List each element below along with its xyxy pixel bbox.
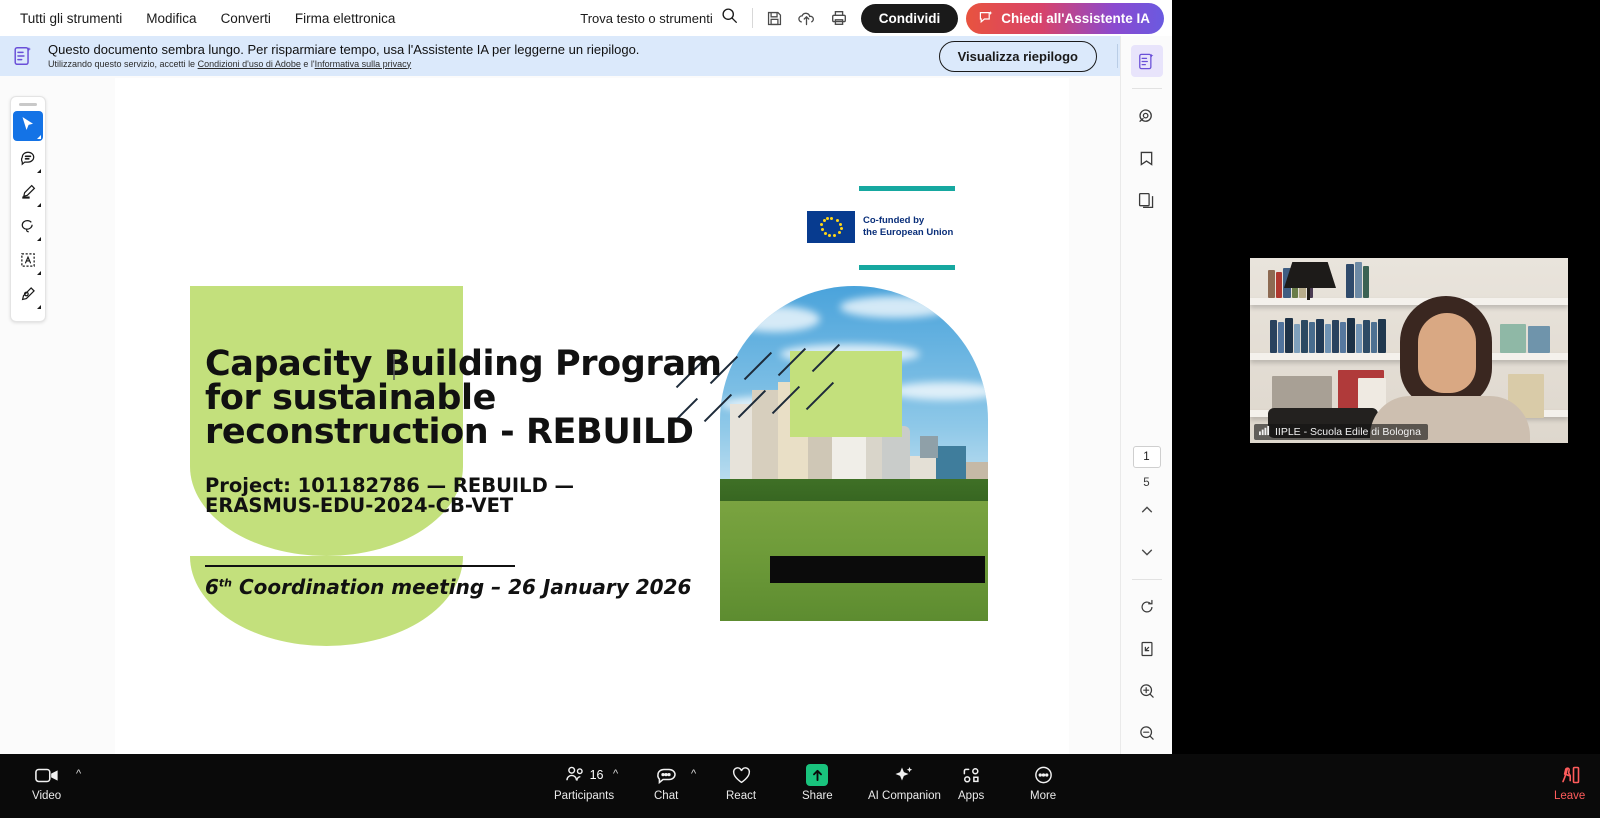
slide-title: Capacity Building Program for sustainabl… (205, 348, 725, 450)
share-button[interactable]: Condividi (861, 4, 959, 33)
ai-assistant-rail-icon[interactable] (1131, 45, 1163, 77)
tool-rail (10, 96, 46, 322)
fill-sign-icon (19, 285, 37, 308)
zoom-toolbar: Video ^ 16 Participants ^ Chat (0, 754, 1600, 818)
acrobat-right-rail: 1 5 (1120, 36, 1172, 754)
slide-subtitle-ordinal: th (219, 576, 232, 589)
rail-drag-handle[interactable] (19, 103, 37, 106)
save-icon[interactable] (759, 2, 791, 34)
slide-project-line1: Project: 101182786 — REBUILD — (205, 476, 725, 496)
rotate-icon[interactable] (1131, 591, 1163, 623)
accent-bar-top (859, 186, 955, 191)
slide-subtitle: 6th Coordination meeting – 26 January 20… (205, 575, 691, 599)
page-number-input[interactable]: 1 (1133, 446, 1161, 468)
camera-icon (35, 764, 59, 786)
city-skyline-photo (720, 286, 988, 621)
print-icon[interactable] (823, 2, 855, 34)
ai-assistant-icon (978, 9, 994, 28)
search-rail-icon[interactable] (1131, 100, 1163, 132)
terms-link[interactable]: Condizioni d'uso di Adobe (198, 59, 301, 69)
eu-logo-line2: the European Union (863, 227, 953, 240)
ai-summary-banner: Questo documento sembra lungo. Per rispa… (0, 36, 1172, 76)
menu-esign[interactable]: Firma elettronica (283, 5, 408, 32)
apps-button[interactable]: Apps (952, 760, 990, 812)
eu-logo-row: Co-funded by the European Union (807, 211, 957, 243)
heart-icon (731, 764, 752, 786)
eu-logo-line1: Co-funded by (863, 215, 953, 228)
chevron-up-icon[interactable] (1131, 494, 1163, 526)
participants-icon: 16 (565, 764, 604, 786)
leave-button[interactable]: Leave (1548, 760, 1591, 812)
text-cursor (393, 354, 395, 380)
slide-project-code: Project: 101182786 — REBUILD — ERASMUS-E… (205, 476, 725, 517)
view-summary-button[interactable]: Visualizza riepilogo (939, 41, 1097, 72)
highlight-tool[interactable] (13, 179, 43, 209)
comment-icon (19, 149, 37, 172)
lasso-tool[interactable] (13, 213, 43, 243)
share-screen-button[interactable]: Share (796, 760, 839, 812)
chevron-down-icon (37, 135, 41, 139)
chat-label: Chat (654, 790, 678, 802)
rail-divider (1132, 88, 1162, 89)
comment-tool[interactable] (13, 145, 43, 175)
apps-icon (961, 764, 982, 786)
react-button[interactable]: React (720, 760, 762, 812)
privacy-link[interactable]: Informativa sulla privacy (315, 59, 412, 69)
select-tool[interactable] (13, 111, 43, 141)
chat-options-caret[interactable]: ^ (691, 768, 696, 780)
video-button[interactable]: Video (26, 760, 67, 812)
rail-divider-2 (1132, 579, 1162, 580)
leave-label: Leave (1554, 790, 1585, 802)
participant-video-tile[interactable]: IIPLE - Scuola Edile di Bologna (1250, 258, 1568, 443)
menu-convert[interactable]: Converti (209, 5, 283, 32)
banner-legal-prefix: Utilizzando questo servizio, accetti le (48, 59, 198, 69)
chevron-down-icon[interactable] (1131, 536, 1163, 568)
slide-subtitle-rest: Coordination meeting – 26 January 2026 (232, 575, 691, 599)
share-label: Share (802, 790, 833, 802)
acrobat-menu: Tutti gli strumenti Modifica Converti Fi… (0, 5, 407, 32)
lasso-icon (19, 217, 37, 240)
accent-bar-bottom (859, 265, 955, 270)
ai-summary-icon (12, 45, 34, 67)
black-bar-overlay (770, 556, 985, 583)
participants-label: Participants (554, 790, 614, 802)
eu-funding-logo: Co-funded by the European Union (807, 186, 957, 270)
banner-divider (1117, 44, 1118, 68)
slide-project-line2: ERASMUS-EDU-2024-CB-VET (205, 496, 725, 516)
slide-divider-rule (205, 565, 515, 567)
pdf-page: Co-funded by the European Union (115, 86, 1069, 754)
participants-button[interactable]: 16 Participants (548, 760, 620, 812)
banner-text: Questo documento sembra lungo. Per rispa… (48, 42, 639, 71)
leave-icon (1559, 764, 1581, 786)
acrobat-toolbar: Tutti gli strumenti Modifica Converti Fi… (0, 0, 1172, 36)
slide-title-block: Capacity Building Program for sustainabl… (205, 348, 725, 516)
more-button[interactable]: More (1024, 760, 1062, 812)
acrobat-window: Tutti gli strumenti Modifica Converti Fi… (0, 0, 1172, 754)
participants-options-caret[interactable]: ^ (613, 768, 618, 780)
slide-title-line3: reconstruction - REBUILD (205, 416, 725, 450)
eu-flag-icon (807, 211, 855, 243)
bookmark-rail-icon[interactable] (1131, 142, 1163, 174)
participants-count: 16 (590, 768, 604, 782)
apps-label: Apps (958, 790, 984, 802)
page-total-label: 5 (1143, 477, 1149, 489)
video-options-caret[interactable]: ^ (76, 768, 81, 780)
menu-edit[interactable]: Modifica (134, 5, 208, 32)
ai-assistant-button[interactable]: Chiedi all'Assistente IA (966, 3, 1164, 34)
fill-sign-tool[interactable] (13, 281, 43, 311)
more-label: More (1030, 790, 1056, 802)
ellipsis-icon (1033, 764, 1054, 786)
chat-button[interactable]: Chat (648, 760, 684, 812)
find-box[interactable]: Trova testo o strumenti (572, 7, 745, 29)
chat-icon (655, 764, 677, 786)
text-box-icon (19, 251, 37, 274)
text-select-tool[interactable] (13, 247, 43, 277)
chevron-down-icon (37, 237, 41, 241)
acrobat-toolbar-right: Trova testo o strumenti (572, 0, 1172, 36)
ai-companion-button[interactable]: AI Companion (862, 760, 947, 812)
chevron-down-icon (37, 203, 41, 207)
upload-cloud-icon[interactable] (791, 2, 823, 34)
search-icon[interactable] (721, 7, 738, 29)
chevron-down-icon (37, 169, 41, 173)
share-screen-icon (806, 764, 828, 786)
eu-logo-text: Co-funded by the European Union (863, 215, 953, 240)
find-input[interactable]: Trova testo o strumenti (580, 11, 712, 26)
highlighter-icon (19, 183, 37, 206)
cursor-icon (20, 116, 36, 137)
slide-title-line1: Capacity Building Program (205, 348, 725, 382)
slide-subtitle-number: 6 (205, 575, 219, 599)
pages-rail-icon[interactable] (1131, 184, 1163, 216)
chevron-down-icon (37, 271, 41, 275)
zoom-out-icon[interactable] (1131, 717, 1163, 749)
participant-name-badge: IIPLE - Scuola Edile di Bologna (1254, 424, 1428, 440)
screen-root: Tutti gli strumenti Modifica Converti Fi… (0, 0, 1600, 818)
react-label: React (726, 790, 756, 802)
menu-all-tools[interactable]: Tutti gli strumenti (8, 5, 134, 32)
banner-title: Questo documento sembra lungo. Per rispa… (48, 42, 639, 57)
chevron-down-icon (37, 305, 41, 309)
video-label: Video (32, 790, 61, 802)
toolbar-divider (752, 8, 753, 28)
sparkle-icon (893, 764, 915, 786)
zoom-in-icon[interactable] (1131, 675, 1163, 707)
ai-companion-label: AI Companion (868, 790, 941, 802)
slide-title-line2: for sustainable (205, 382, 725, 416)
participant-name-label: IIPLE - Scuola Edile di Bologna (1275, 426, 1421, 438)
ai-assistant-label: Chiedi all'Assistente IA (1001, 11, 1150, 26)
banner-legal: Utilizzando questo servizio, accetti le … (48, 58, 639, 71)
document-viewport[interactable]: Co-funded by the European Union (115, 78, 1069, 754)
fit-page-icon[interactable] (1131, 633, 1163, 665)
banner-legal-mid: e l' (301, 59, 315, 69)
participant-face (1418, 313, 1476, 393)
signal-bars-icon (1259, 423, 1270, 441)
